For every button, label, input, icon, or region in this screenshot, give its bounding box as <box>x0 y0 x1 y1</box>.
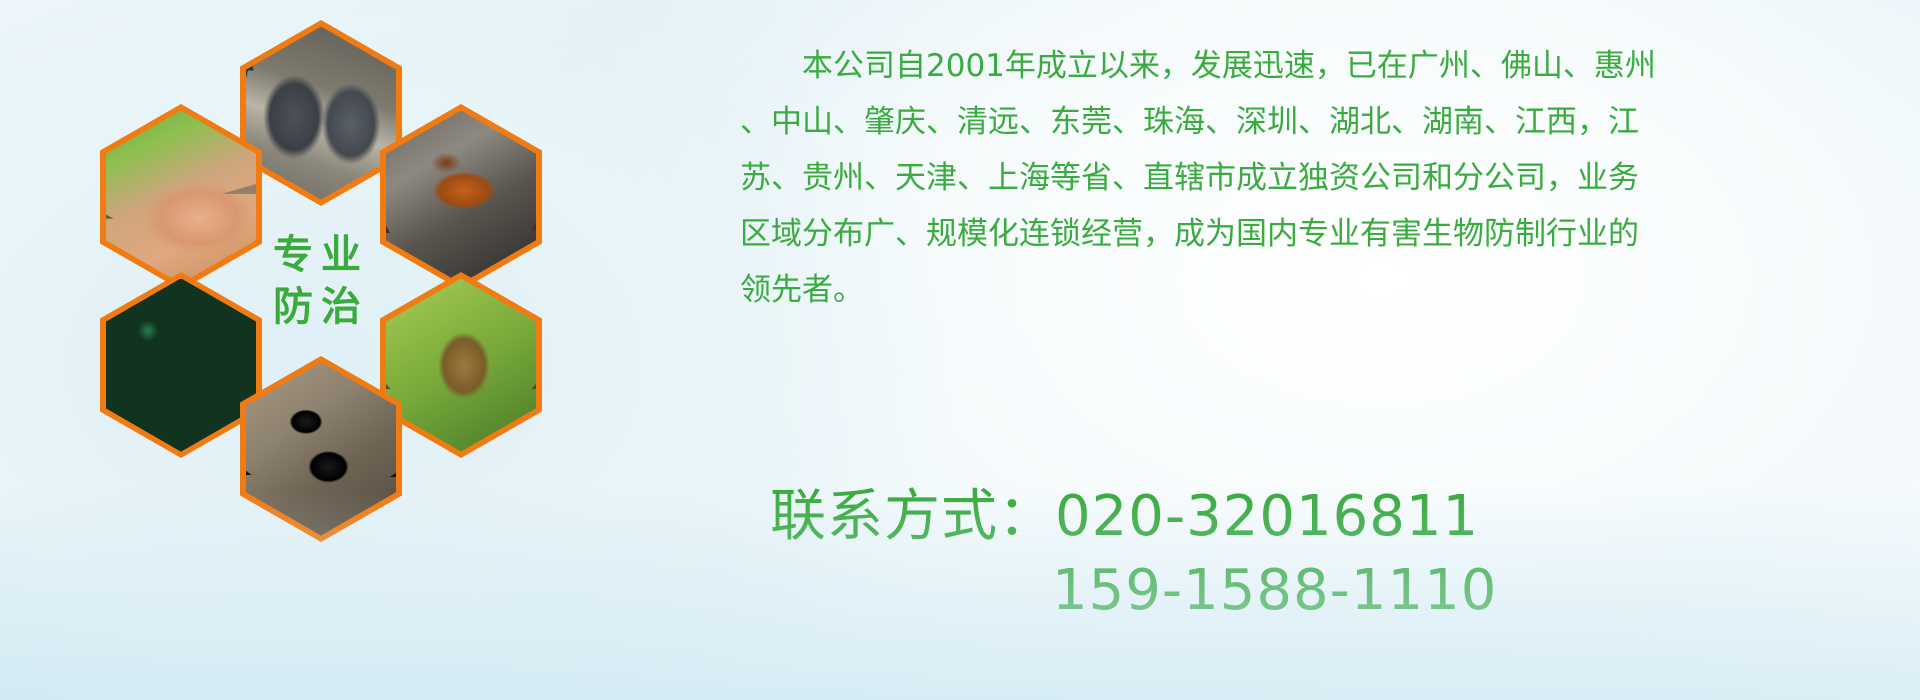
company-description: 本公司自2001年成立以来，发展迅速，已在广州、佛山、惠州 、中山、肇庆、清远、… <box>740 38 1900 318</box>
cockroach-image <box>386 111 536 284</box>
hex-photo-flies <box>106 279 256 452</box>
hex-cell-flies <box>100 272 262 458</box>
rats-image <box>246 27 396 200</box>
flies-image <box>106 279 256 452</box>
hex-cell-rats <box>240 20 402 206</box>
hex-cell-mosquito <box>100 104 262 290</box>
promo-banner: 专业 防治 本公司自2001年成立以来，发展迅速，已在广州、佛山、惠州 、中山、… <box>0 0 1920 700</box>
description-line-2: 、中山、肇庆、清远、东莞、珠海、深圳、湖北、湖南、江西，江 <box>740 94 1900 150</box>
contact-phone-secondary[interactable]: 159-1588-1110 <box>1052 558 1497 623</box>
hex-label-line-1: 专业 <box>273 235 369 275</box>
stink-bug-image <box>386 279 536 452</box>
hex-cell-stink-bug <box>380 272 542 458</box>
hex-photo-mosquito <box>106 111 256 284</box>
description-line-5: 领先者。 <box>740 262 1900 318</box>
hex-photo-stink-bug <box>386 279 536 452</box>
contact-label: 联系方式： <box>770 484 1055 549</box>
hex-cell-ant <box>240 356 402 542</box>
contact-secondary-row: 159-1588-1110 <box>770 554 1497 628</box>
hex-photo-ant <box>246 363 396 536</box>
description-line-4: 区域分布广、规模化连锁经营，成为国内专业有害生物防制行业的 <box>740 206 1900 262</box>
contact-phone-primary[interactable]: 020-32016811 <box>1055 484 1479 549</box>
description-line-3: 苏、贵州、天津、上海等省、直辖市成立独资公司和分公司，业务 <box>740 150 1900 206</box>
hex-label-line-2: 防治 <box>273 287 369 327</box>
hexagon-photo-cluster: 专业 防治 <box>88 14 588 574</box>
hexagon-center-label: 专业 防治 <box>240 188 402 374</box>
hex-cell-cockroach <box>380 104 542 290</box>
contact-primary-row: 联系方式：020-32016811 <box>770 480 1497 554</box>
description-line-1: 本公司自2001年成立以来，发展迅速，已在广州、佛山、惠州 <box>740 38 1900 94</box>
ant-image <box>246 363 396 536</box>
mosquito-image <box>106 111 256 284</box>
hex-photo-cockroach <box>386 111 536 284</box>
hex-photo-rats <box>246 27 396 200</box>
contact-block: 联系方式：020-32016811 159-1588-1110 <box>770 480 1497 628</box>
